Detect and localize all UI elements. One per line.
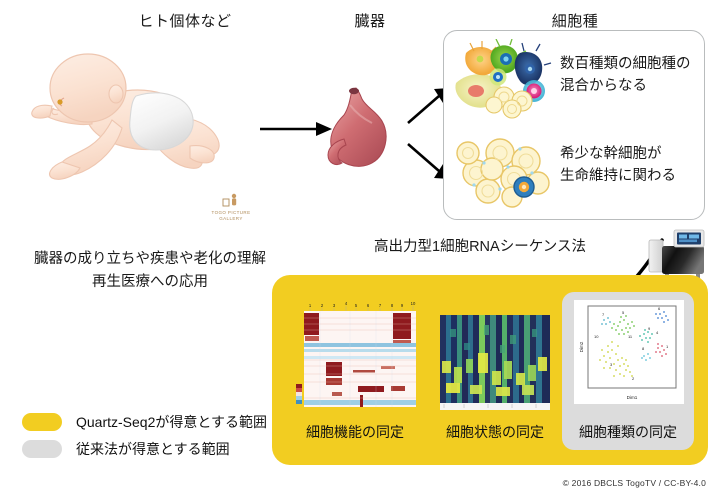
stem-cell-illustration [454, 129, 554, 214]
header-organ: 臓器 [305, 10, 435, 31]
copyright-notice: © 2016 DBCLS TogoTV / CC-BY-4.0 [0, 478, 706, 488]
cell-type-mixture-line-1: 数百種類の細胞種の [560, 53, 691, 75]
panel-label-cell-function-text: 細胞機能の同定 [306, 424, 404, 440]
method-title-label: 高出力型1細胞RNAシーケンス法 [374, 239, 586, 255]
cell-state-heatmap [440, 315, 550, 415]
panel-label-cell-identity-text: 細胞種類の同定 [579, 424, 677, 440]
header-cell-type: 細胞種 [490, 10, 660, 31]
header-cell-type-label: 細胞種 [552, 13, 599, 30]
svg-text:1: 1 [309, 303, 312, 308]
watermark-line-2: GALLERY [196, 216, 266, 222]
svg-text:10: 10 [411, 301, 416, 306]
svg-text:3: 3 [333, 303, 336, 308]
cell-type-panel: 数百種類の細胞種の 混合からなる [443, 30, 705, 220]
panel-label-cell-function: 細胞機能の同定 [280, 422, 430, 442]
stomach-illustration [320, 85, 398, 180]
stem-cell-line-1: 希少な幹細胞が [560, 143, 676, 165]
outcome-line-1: 臓器の成り立ちや疾患や老化の理解 [0, 248, 300, 271]
method-title: 高出力型1細胞RNAシーケンス法 [330, 235, 630, 256]
tsne-x-axis-label: Dim1 [627, 395, 638, 400]
legend-label-quartz-seq2: Quartz-Seq2が得意とする範囲 [76, 412, 267, 432]
svg-text:9: 9 [401, 303, 404, 308]
stem-cell-text: 希少な幹細胞が 生命維持に関わる [560, 143, 676, 188]
svg-text:10: 10 [594, 334, 599, 339]
outcome-line-2: 再生医療への応用 [0, 271, 300, 294]
cell-type-mixture-text: 数百種類の細胞種の 混合からなる [560, 53, 691, 98]
panel-label-cell-identity: 細胞種類の同定 [562, 422, 694, 442]
cell-type-mixture-line-2: 混合からなる [560, 75, 691, 97]
header-individual-label: ヒト個体など [138, 13, 231, 30]
svg-text:2: 2 [321, 303, 324, 308]
svg-text:5: 5 [355, 303, 358, 308]
panel-label-cell-state-text: 細胞状態の同定 [446, 424, 544, 440]
legend: Quartz-Seq2が得意とする範囲 従来法が得意とする範囲 [22, 412, 267, 466]
svg-text:8: 8 [391, 303, 394, 308]
legend-label-conventional: 従来法が得意とする範囲 [76, 439, 230, 459]
svg-text:7: 7 [379, 303, 382, 308]
legend-swatch-conventional [22, 440, 62, 458]
header-organ-label: 臓器 [354, 13, 385, 30]
copyright-text: © 2016 DBCLS TogoTV / CC-BY-4.0 [563, 478, 706, 488]
mixed-cell-types-illustration [452, 39, 552, 126]
legend-item-quartz-seq2: Quartz-Seq2が得意とする範囲 [22, 412, 267, 432]
tsne-y-axis-label: Dim2 [579, 341, 584, 352]
svg-text:4: 4 [345, 301, 348, 306]
outcome-text: 臓器の成り立ちや疾患や老化の理解 再生医療への応用 [0, 248, 300, 295]
svg-text:6: 6 [367, 303, 370, 308]
panel-label-cell-state: 細胞状態の同定 [430, 422, 560, 442]
togo-picture-gallery-watermark: TOGO PICTURE GALLERY [196, 193, 266, 233]
baby-illustration [30, 50, 270, 200]
legend-item-conventional: 従来法が得意とする範囲 [22, 439, 267, 459]
header-individual: ヒト個体など [70, 10, 300, 31]
cell-function-heatmap: 123 456 789 10 [296, 300, 422, 417]
stem-cell-line-2: 生命維持に関わる [560, 165, 676, 187]
cell-identity-tsne-plot: 123 456 789 1011 Dim1 Dim2 [574, 300, 684, 409]
legend-swatch-quartz-seq2 [22, 413, 62, 431]
